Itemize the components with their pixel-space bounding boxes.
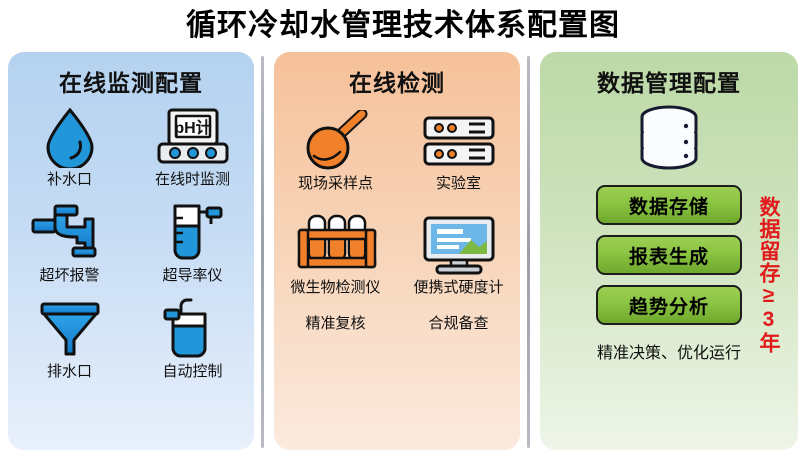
faucet-icon bbox=[29, 202, 111, 264]
item-drain-outlet[interactable]: 排水口 bbox=[8, 298, 131, 388]
item-label: 自动控制 bbox=[162, 362, 222, 381]
panel-divider-1 bbox=[261, 56, 264, 448]
item-label: 在线时监测 bbox=[155, 170, 230, 189]
item-laboratory[interactable]: 实验室 bbox=[397, 110, 520, 206]
sublabel-precision-review: 精准复核 bbox=[274, 312, 397, 333]
panel-divider-2 bbox=[527, 56, 530, 448]
monitor-chart-icon bbox=[419, 214, 499, 276]
item-ph-meter[interactable]: pH计 在线时监测 bbox=[131, 106, 254, 196]
icon-grid-online-monitoring: 补水口 pH计 在线时监测 bbox=[8, 106, 254, 388]
database-cylinder-icon bbox=[634, 104, 704, 175]
sampling-ladle-icon bbox=[300, 110, 372, 172]
item-label: 排水口 bbox=[47, 362, 92, 381]
button-trend-analysis[interactable]: 趋势分析 bbox=[596, 285, 742, 325]
svg-text:pH计: pH计 bbox=[174, 118, 211, 137]
item-label: 超导率仪 bbox=[162, 266, 222, 285]
beaker-icon bbox=[161, 202, 225, 264]
database-icon-wrap bbox=[540, 104, 798, 175]
item-label: 实验室 bbox=[436, 174, 481, 193]
button-report-generation[interactable]: 报表生成 bbox=[596, 235, 742, 275]
item-auto-control[interactable]: 自动控制 bbox=[131, 298, 254, 388]
sublabel-row: 精准复核 合规备查 bbox=[274, 312, 520, 333]
item-label: 现场采样点 bbox=[298, 174, 373, 193]
test-tube-rack-icon bbox=[293, 214, 379, 276]
panel-online-monitoring: 在线监测配置 补水口 pH计 bbox=[8, 52, 254, 450]
server-rack-icon bbox=[421, 110, 497, 172]
water-drop-icon bbox=[42, 106, 98, 168]
item-label: 微生物检测仪 bbox=[290, 278, 380, 297]
item-label: 超坏报警 bbox=[39, 266, 99, 285]
item-label: 补水口 bbox=[47, 170, 92, 189]
item-portable-hardness-meter[interactable]: 微生物检测仪 bbox=[274, 214, 397, 310]
icon-grid-online-inspection: 现场采样点 实 bbox=[274, 110, 520, 310]
page-title: 循环冷却水管理技术体系配置图 bbox=[0, 4, 806, 48]
data-retention-note: 数据留存≥3年 bbox=[748, 196, 782, 354]
item-water-inlet[interactable]: 补水口 bbox=[8, 106, 131, 196]
item-label: 便携式硬度计 bbox=[413, 278, 503, 297]
panel-title-data-management: 数据管理配置 bbox=[540, 64, 798, 98]
item-microbial-detector[interactable]: 便携式硬度计 bbox=[397, 214, 520, 310]
ph-meter-icon: pH计 bbox=[155, 106, 231, 168]
auto-control-icon bbox=[161, 298, 225, 360]
item-sampling-point[interactable]: 现场采样点 bbox=[274, 110, 397, 206]
panel-online-inspection: 在线检测 现场采样点 bbox=[274, 52, 520, 450]
item-overflow-alarm[interactable]: 超坏报警 bbox=[8, 202, 131, 292]
sublabel-compliance-record: 合规备查 bbox=[397, 312, 520, 333]
button-data-storage[interactable]: 数据存储 bbox=[596, 185, 742, 225]
funnel-icon bbox=[36, 298, 104, 360]
panel-title-online-monitoring: 在线监测配置 bbox=[8, 64, 254, 98]
panel-title-online-inspection: 在线检测 bbox=[274, 64, 520, 98]
item-conductivity-meter[interactable]: 超导率仪 bbox=[131, 202, 254, 292]
infographic-root: 循环冷却水管理技术体系配置图 在线监测配置 补水口 pH bbox=[0, 0, 806, 466]
